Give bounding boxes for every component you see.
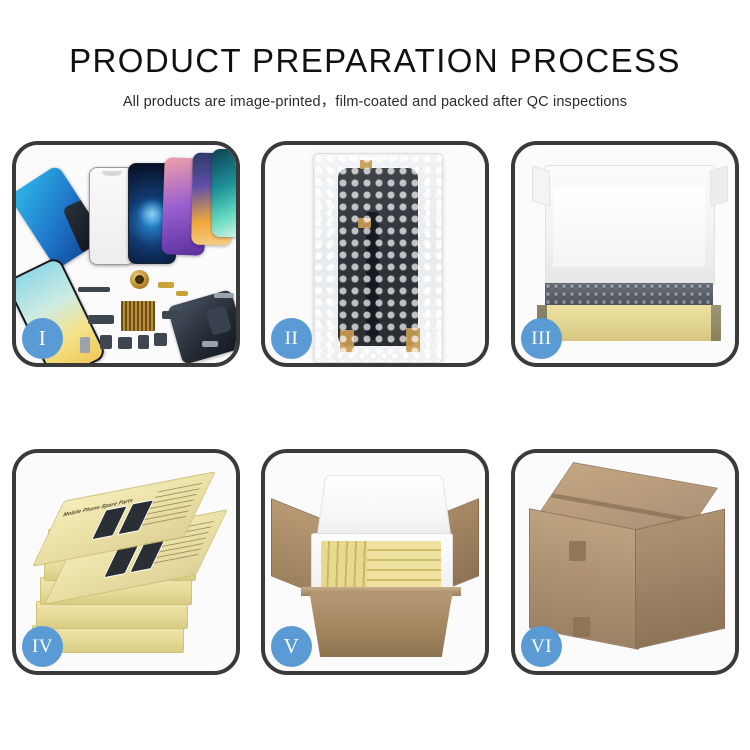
vibrator-part (100, 335, 112, 349)
carton-front-panel (305, 593, 457, 657)
tape-top (360, 160, 372, 169)
step-badge-1: I (22, 318, 63, 359)
camera-module-part (154, 333, 167, 346)
tape-bottom-left (340, 330, 354, 352)
teal-phone-screen (212, 149, 236, 237)
panel-step-2: II (261, 141, 489, 367)
flex-cable-part (88, 315, 114, 324)
tweezer-tool (214, 293, 234, 298)
bubble-wrap-bag (313, 153, 443, 363)
carton-tape-upper (569, 541, 586, 561)
foam-box-lid (316, 475, 452, 542)
sim-tray-part (80, 337, 90, 353)
screwdriver-tool (202, 341, 218, 347)
panel-step-1: I (12, 141, 240, 367)
carton-right-face (635, 509, 725, 650)
white-foam-sheet (553, 187, 705, 267)
tape-middle (358, 218, 371, 228)
panel-step-6: VI (511, 449, 739, 675)
antenna-strip-part (78, 287, 110, 292)
carton-tape-lower (573, 617, 590, 637)
page-subtitle: All products are image-printed，film-coat… (0, 79, 750, 111)
phone-back-housing (167, 289, 236, 363)
wireless-coil-part (121, 301, 155, 331)
loudspeaker-part (118, 337, 132, 349)
yellow-boxes-inside (321, 541, 441, 589)
step-badge-4: IV (22, 626, 63, 667)
panel-step-5: V (261, 449, 489, 675)
gold-flex-part (158, 282, 174, 288)
step-badge-5: V (271, 626, 312, 667)
speaker-part (130, 270, 149, 289)
yellow-box-base (537, 305, 721, 341)
button-flex-part (138, 335, 149, 349)
step-badge-2: II (271, 318, 312, 359)
step-badge-3: III (521, 318, 562, 359)
camera-flex-part (162, 311, 186, 319)
page-header: PRODUCT PREPARATION PROCESS All products… (0, 0, 750, 130)
tape-bottom-right (406, 328, 420, 352)
panel-step-3: III (511, 141, 739, 367)
page-title: PRODUCT PREPARATION PROCESS (0, 0, 750, 79)
step-badge-6: VI (521, 626, 562, 667)
wrapped-flex-cable (366, 212, 379, 340)
panel-step-4: Mobile Phone Spare Parts Mobile Phone Sp… (12, 449, 240, 675)
process-panel-grid: I II (12, 141, 739, 676)
stacked-box-4 (36, 601, 188, 629)
gold-connector-part (176, 291, 188, 296)
